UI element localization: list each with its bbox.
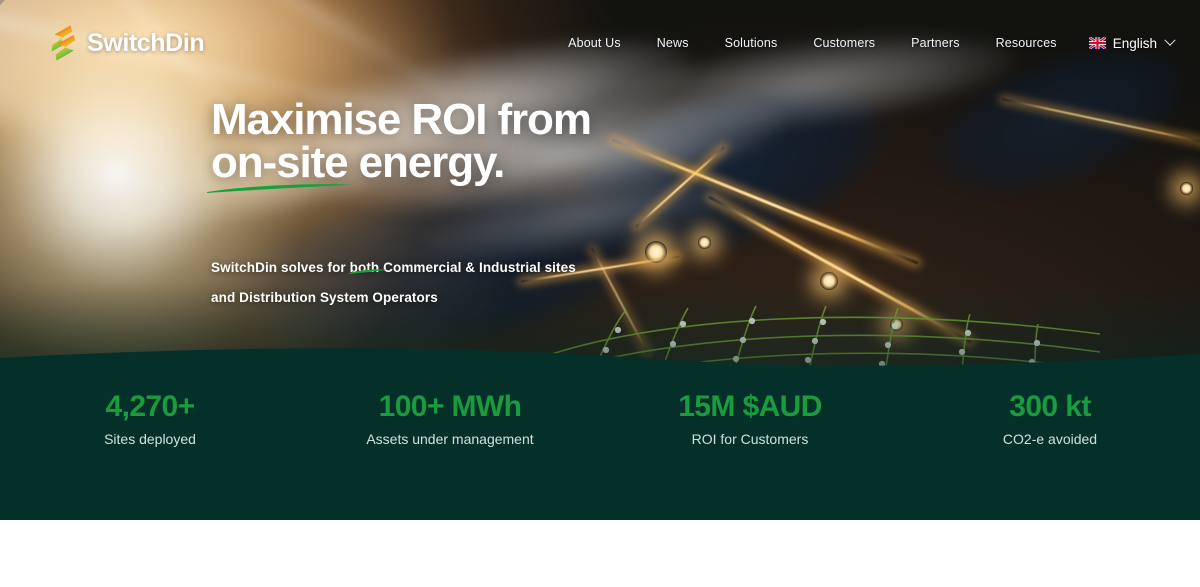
stat-label: CO2-e avoided bbox=[900, 429, 1200, 449]
hero-headline-line2: on-site energy. bbox=[211, 138, 504, 187]
nav-item-partners[interactable]: Partners bbox=[893, 31, 977, 55]
language-label: English bbox=[1113, 36, 1157, 51]
stats-band: 4,270+ Sites deployed 100+ MWh Assets un… bbox=[0, 330, 1200, 520]
hero-headline-line2-wrap: on-site energy. bbox=[211, 141, 931, 184]
site-header: SwitchDin About Us News Solutions Custom… bbox=[0, 0, 1200, 84]
nav-item-customers[interactable]: Customers bbox=[795, 31, 893, 55]
stat-label: ROI for Customers bbox=[600, 429, 900, 449]
hero-sub-line1: SwitchDin solves for both Commercial & I… bbox=[211, 253, 931, 283]
nav-item-resources[interactable]: Resources bbox=[978, 31, 1075, 55]
stat-value: 4,270+ bbox=[0, 390, 300, 424]
nav-item-about-us[interactable]: About Us bbox=[550, 31, 639, 55]
stat-label: Assets under management bbox=[300, 429, 600, 449]
chevron-down-icon bbox=[1164, 35, 1175, 46]
switchdin-bolt-logo-icon bbox=[48, 24, 78, 62]
stat-value: 100+ MWh bbox=[300, 390, 600, 424]
stat-item-roi-for-customers: 15M $AUD ROI for Customers bbox=[600, 390, 900, 449]
stats-row: 4,270+ Sites deployed 100+ MWh Assets un… bbox=[0, 390, 1200, 449]
hero-copy: Maximise ROI from on-site energy. Switch… bbox=[211, 98, 931, 313]
hero-sub-line1-a: SwitchDin solves for bbox=[211, 260, 350, 275]
stat-value: 300 kt bbox=[900, 390, 1200, 424]
brand-logo[interactable]: SwitchDin bbox=[48, 24, 204, 62]
page-root: SwitchDin About Us News Solutions Custom… bbox=[0, 0, 1200, 587]
green-underline-small-icon bbox=[348, 268, 388, 275]
nav-item-solutions[interactable]: Solutions bbox=[707, 31, 796, 55]
main-navigation: About Us News Solutions Customers Partne… bbox=[550, 31, 1174, 55]
nav-item-news[interactable]: News bbox=[639, 31, 707, 55]
stat-item-sites-deployed: 4,270+ Sites deployed bbox=[0, 390, 300, 449]
hero-sub-line2: and Distribution System Operators bbox=[211, 283, 931, 313]
hero-subcopy: SwitchDin solves for both Commercial & I… bbox=[211, 253, 931, 313]
page-white-area bbox=[0, 517, 1200, 587]
language-selector[interactable]: English bbox=[1075, 36, 1174, 51]
stat-item-co2e-avoided: 300 kt CO2-e avoided bbox=[900, 390, 1200, 449]
stat-label: Sites deployed bbox=[0, 429, 300, 449]
hero-sub-line1-b: Commercial & Industrial sites bbox=[379, 260, 576, 275]
green-underline-accent-icon bbox=[205, 181, 355, 195]
uk-flag-icon bbox=[1089, 37, 1106, 49]
hero-headline-line1: Maximise ROI from bbox=[211, 98, 931, 141]
brand-name: SwitchDin bbox=[87, 29, 204, 58]
stat-value: 15M $AUD bbox=[600, 390, 900, 424]
stat-item-assets-under-management: 100+ MWh Assets under management bbox=[300, 390, 600, 449]
